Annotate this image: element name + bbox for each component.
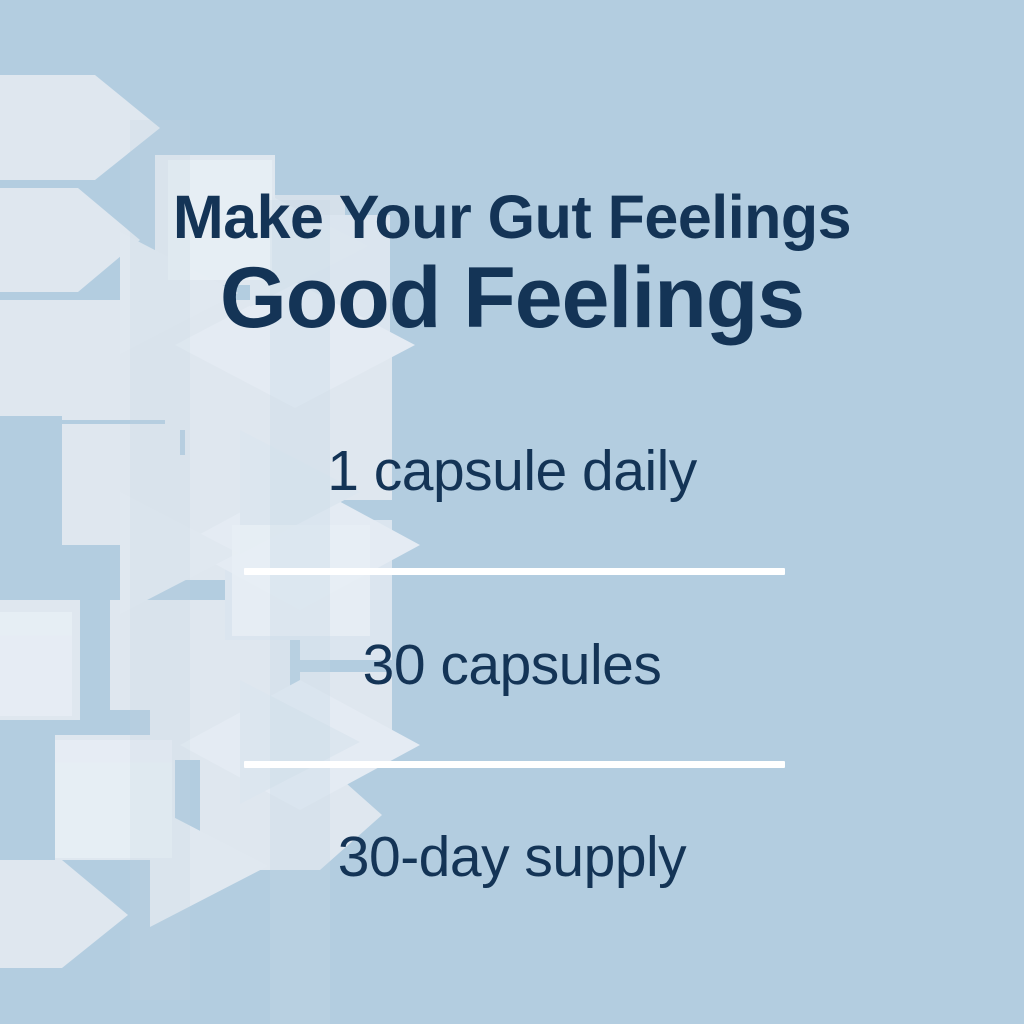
fact-supply-duration: 30-day supply — [0, 829, 1024, 886]
product-info-card: Make Your Gut Feelings Good Feelings 1 c… — [0, 0, 1024, 1024]
headline: Make Your Gut Feelings Good Feelings — [0, 186, 1024, 341]
fact-capsule-count: 30 capsules — [0, 637, 1024, 694]
fact-dosage: 1 capsule daily — [0, 443, 1024, 500]
divider-after-count — [244, 761, 785, 768]
headline-line-1: Make Your Gut Feelings — [0, 186, 1024, 249]
divider-after-dosage — [244, 568, 785, 575]
headline-line-2: Good Feelings — [0, 255, 1024, 341]
card-content: Make Your Gut Feelings Good Feelings 1 c… — [0, 0, 1024, 1024]
